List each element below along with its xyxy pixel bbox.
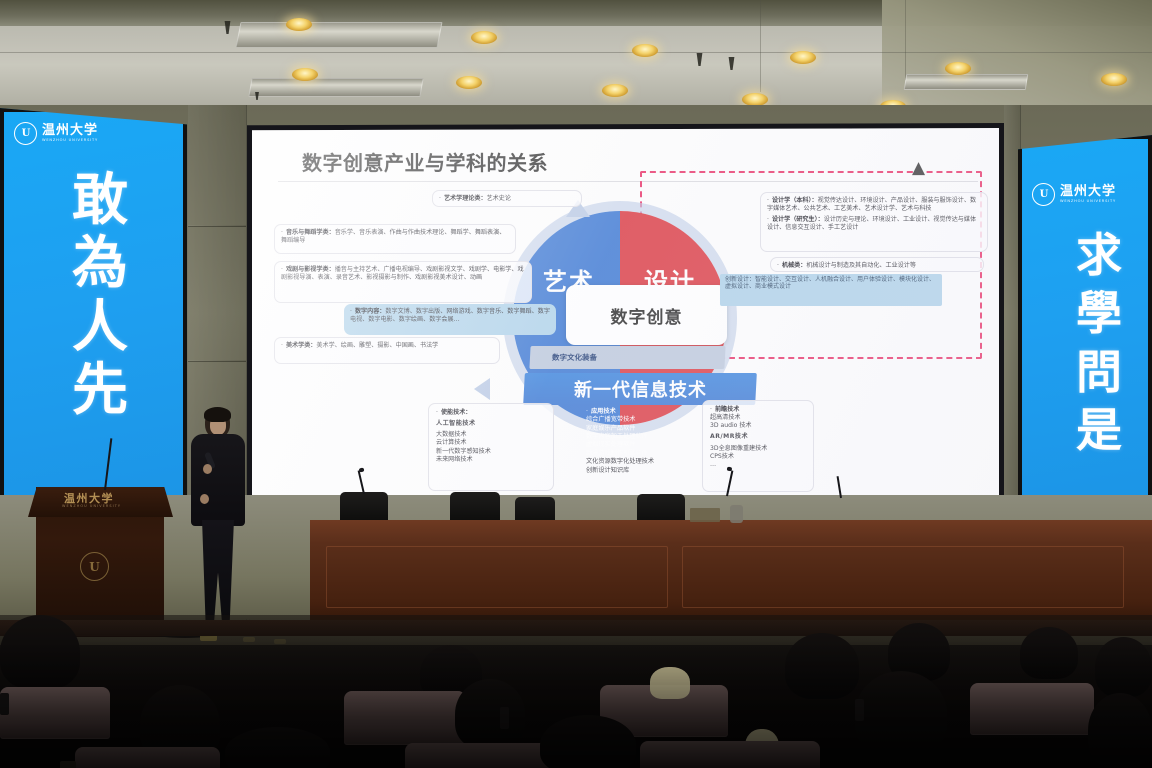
enabling-tech-item: 未来网络技术 [436,456,546,464]
ceiling-seam-vertical [760,0,761,92]
digital-content-title: 数字内容： [355,308,385,315]
calligraphy-char: 敢 [72,176,128,225]
center-concept-box: 数字创意 [566,285,727,345]
ceiling-downlight [471,31,497,44]
callout-digital-content: · 数字内容：数字文博、数字出版、网络游戏、数字音乐、数字舞蹈、数字电视、数字电… [344,304,556,335]
calligraphy-char: 問 [1076,352,1122,392]
ceiling-seam-vertical [905,0,906,80]
table-panel [326,546,668,608]
music-dance-title: 音乐与舞蹈学类： [286,229,335,236]
callout-frontier-tech: · 前瞻技术 超高清技术 3D audio 技术 AR/MR技术 3D全息图像重… [702,400,814,492]
ceiling-downlight [790,51,816,64]
table-nameplate [690,508,720,522]
slide-title: 数字创意产业与学科的关系 [302,147,548,176]
callout-mechanical: · 机械类：机械设计与制造及其自动化、工业设计等 [770,257,984,272]
callout-fine-arts: · 美术学类：美术学、绘画、雕塑、摄影、中国画、书法学 [274,337,500,364]
ceiling-seam [0,52,1152,53]
fine-arts-title: 美术学类： [286,342,316,349]
ceiling-downlight [632,44,658,57]
calligraphy-char: 先 [72,366,128,415]
presentation-slide: 数字创意产业与学科的关系 ▲ 艺术 设计 数字创意 数字文化装备 新一代信息技术… [252,128,999,500]
design-undergrad-title: 设计学（本科）： [772,197,818,204]
enabling-tech-title: 使能技术： [441,409,471,416]
calligraphy-char: 求 [1076,235,1122,275]
equipment-label: 数字文化装备 [552,352,598,363]
ceiling-air-vent [248,78,423,97]
frontier-tech-highlight: AR/MR技术 [710,433,806,441]
wall-panel-seam [188,225,246,227]
podium-name-en: WENZHOU UNIVERSITY [62,504,121,508]
foreground-shadow [0,640,1152,768]
university-name-cn: 温州大学 [42,124,98,137]
ceiling-air-vent [904,74,1029,90]
wenzhou-university-logo: U 温州大学 WENZHOU UNIVERSITY [14,122,98,145]
innovation-design-text: 创新设计：智能设计、交互设计、人机融合设计、用户体验设计、模块化设计、虚拟设计、… [725,276,937,291]
mechanical-title: 机械类： [782,262,806,269]
head-table [310,520,1152,628]
logo-ring-icon: U [14,122,37,145]
logo-ring-icon: U [1032,183,1055,206]
application-tech-item: 动漫游戏制作引擎软件 [586,450,706,458]
application-tech-item: 家庭娱乐产品软件 [586,425,706,433]
arrow-left-icon [474,378,490,400]
callout-music-dance: · 音乐与舞蹈学类：音乐学、音乐表演、作曲与作曲技术理论、舞蹈学、舞蹈表演、舞蹈… [274,224,516,254]
table-panel [682,546,1124,608]
calligraphy-char: 學 [1076,293,1122,333]
ceiling-downlight [1101,73,1127,86]
callout-art-theory: · 艺术学理论类：艺术史论 [432,190,582,207]
wall-panel-seam [188,360,246,362]
frontier-tech-item: 3D全息图像重建技术 [710,445,806,453]
ceiling-downlight [945,62,971,75]
art-theory-title: 艺术学理论类： [444,195,487,202]
frontier-tech-title: 前瞻技术 [715,406,739,413]
enabling-tech-item: 云计算技术 [436,439,546,447]
fine-arts-body: 美术学、绘画、雕塑、摄影、中国画、书法学 [316,342,438,349]
callout-drama-film: · 戏剧与影视学类：播音与主持艺术、广播电视编导、戏剧影视文学、戏剧学、电影学、… [274,261,532,303]
application-tech-item: 综合广播宽带技术 [586,416,706,424]
podium-seal-letter: U [89,560,99,574]
presenter-hair [204,407,231,422]
ceiling-speaker-icon [727,57,736,70]
presenter-hand [200,494,209,504]
enabling-tech-item: 新一代数字感知技术 [436,448,546,456]
calligraphy-char: 人 [72,303,128,352]
mechanical-body: 机械设计与制造及其自动化、工业设计等 [806,262,916,269]
wenzhou-university-logo: U 温州大学 WENZHOU UNIVERSITY [1032,183,1116,206]
application-tech-item: 文化资源数字化处理技术 [586,458,706,466]
podium-seal-icon: U [80,552,109,581]
digital-culture-equipment-bar: 数字文化装备 [529,346,725,369]
ceiling-downlight [456,76,482,89]
info-tech-label: 新一代信息技术 [574,376,707,402]
frontier-tech-item: … [710,461,806,469]
innovation-design-band: 创新设计：智能设计、交互设计、人机融合设计、用户体验设计、模块化设计、虚拟设计、… [720,274,942,306]
calligraphy-char: 是 [1076,410,1122,450]
callout-enabling-tech: · 使能技术： 人工智能技术 大数据技术 云计算技术 新一代数字感知技术 未来网… [428,403,554,491]
table-cup [730,505,743,523]
frontier-tech-item: CPS技术 [710,453,806,461]
design-grad-title: 设计学（研究生）： [772,216,824,223]
marker-icon: ▲ [912,160,925,182]
lecture-hall-photo: U 温州大学 WENZHOU UNIVERSITY 敢 為 人 先 [0,0,1152,768]
calligraphy-left: 敢 為 人 先 [72,176,128,415]
ceiling-right-panel [882,0,1152,118]
art-theory-body: 艺术史论 [487,195,511,202]
center-concept-label: 数字创意 [611,303,683,328]
presenter-torso [191,434,245,526]
table-microphone-head [727,467,733,471]
frontier-tech-item: 3D audio 技术 [710,422,806,430]
application-tech-item: 创新设计知识库 [586,467,706,475]
ceiling-air-vent [235,22,442,48]
logo-letter: U [1040,189,1048,200]
ceiling-downlight [286,18,312,31]
ceiling-speaker-icon [695,53,704,66]
application-tech-title: 应用技术 [591,408,616,415]
application-tech-item: 虚拟现实处理软件 [586,441,706,449]
conference-chair [450,492,500,522]
conference-chair [340,492,388,522]
university-name-cn: 温州大学 [1060,185,1116,198]
callout-design-discipline: · 设计学（本科）：视觉传达设计、环境设计、产品设计、服装与服饰设计、数字媒体艺… [760,192,988,252]
university-name-en: WENZHOU UNIVERSITY [1060,200,1116,204]
calligraphy-right: 求 學 問 是 [1076,235,1122,451]
presenter-hand [203,464,212,474]
university-name-en: WENZHOU UNIVERSITY [42,139,98,143]
calligraphy-char: 為 [72,239,128,288]
enabling-tech-highlight: 人工智能技术 [436,420,546,428]
drama-film-title: 戏剧与影视学类： [286,266,335,273]
list-application-tech: · 应用技术 综合广播宽带技术 家庭娱乐产品软件 数字内容加工处理软件 虚拟现实… [586,408,706,475]
logo-letter: U [22,128,30,139]
ceiling [0,0,1152,118]
ceiling-downlight [602,84,628,97]
ceiling-downlight [292,68,318,81]
